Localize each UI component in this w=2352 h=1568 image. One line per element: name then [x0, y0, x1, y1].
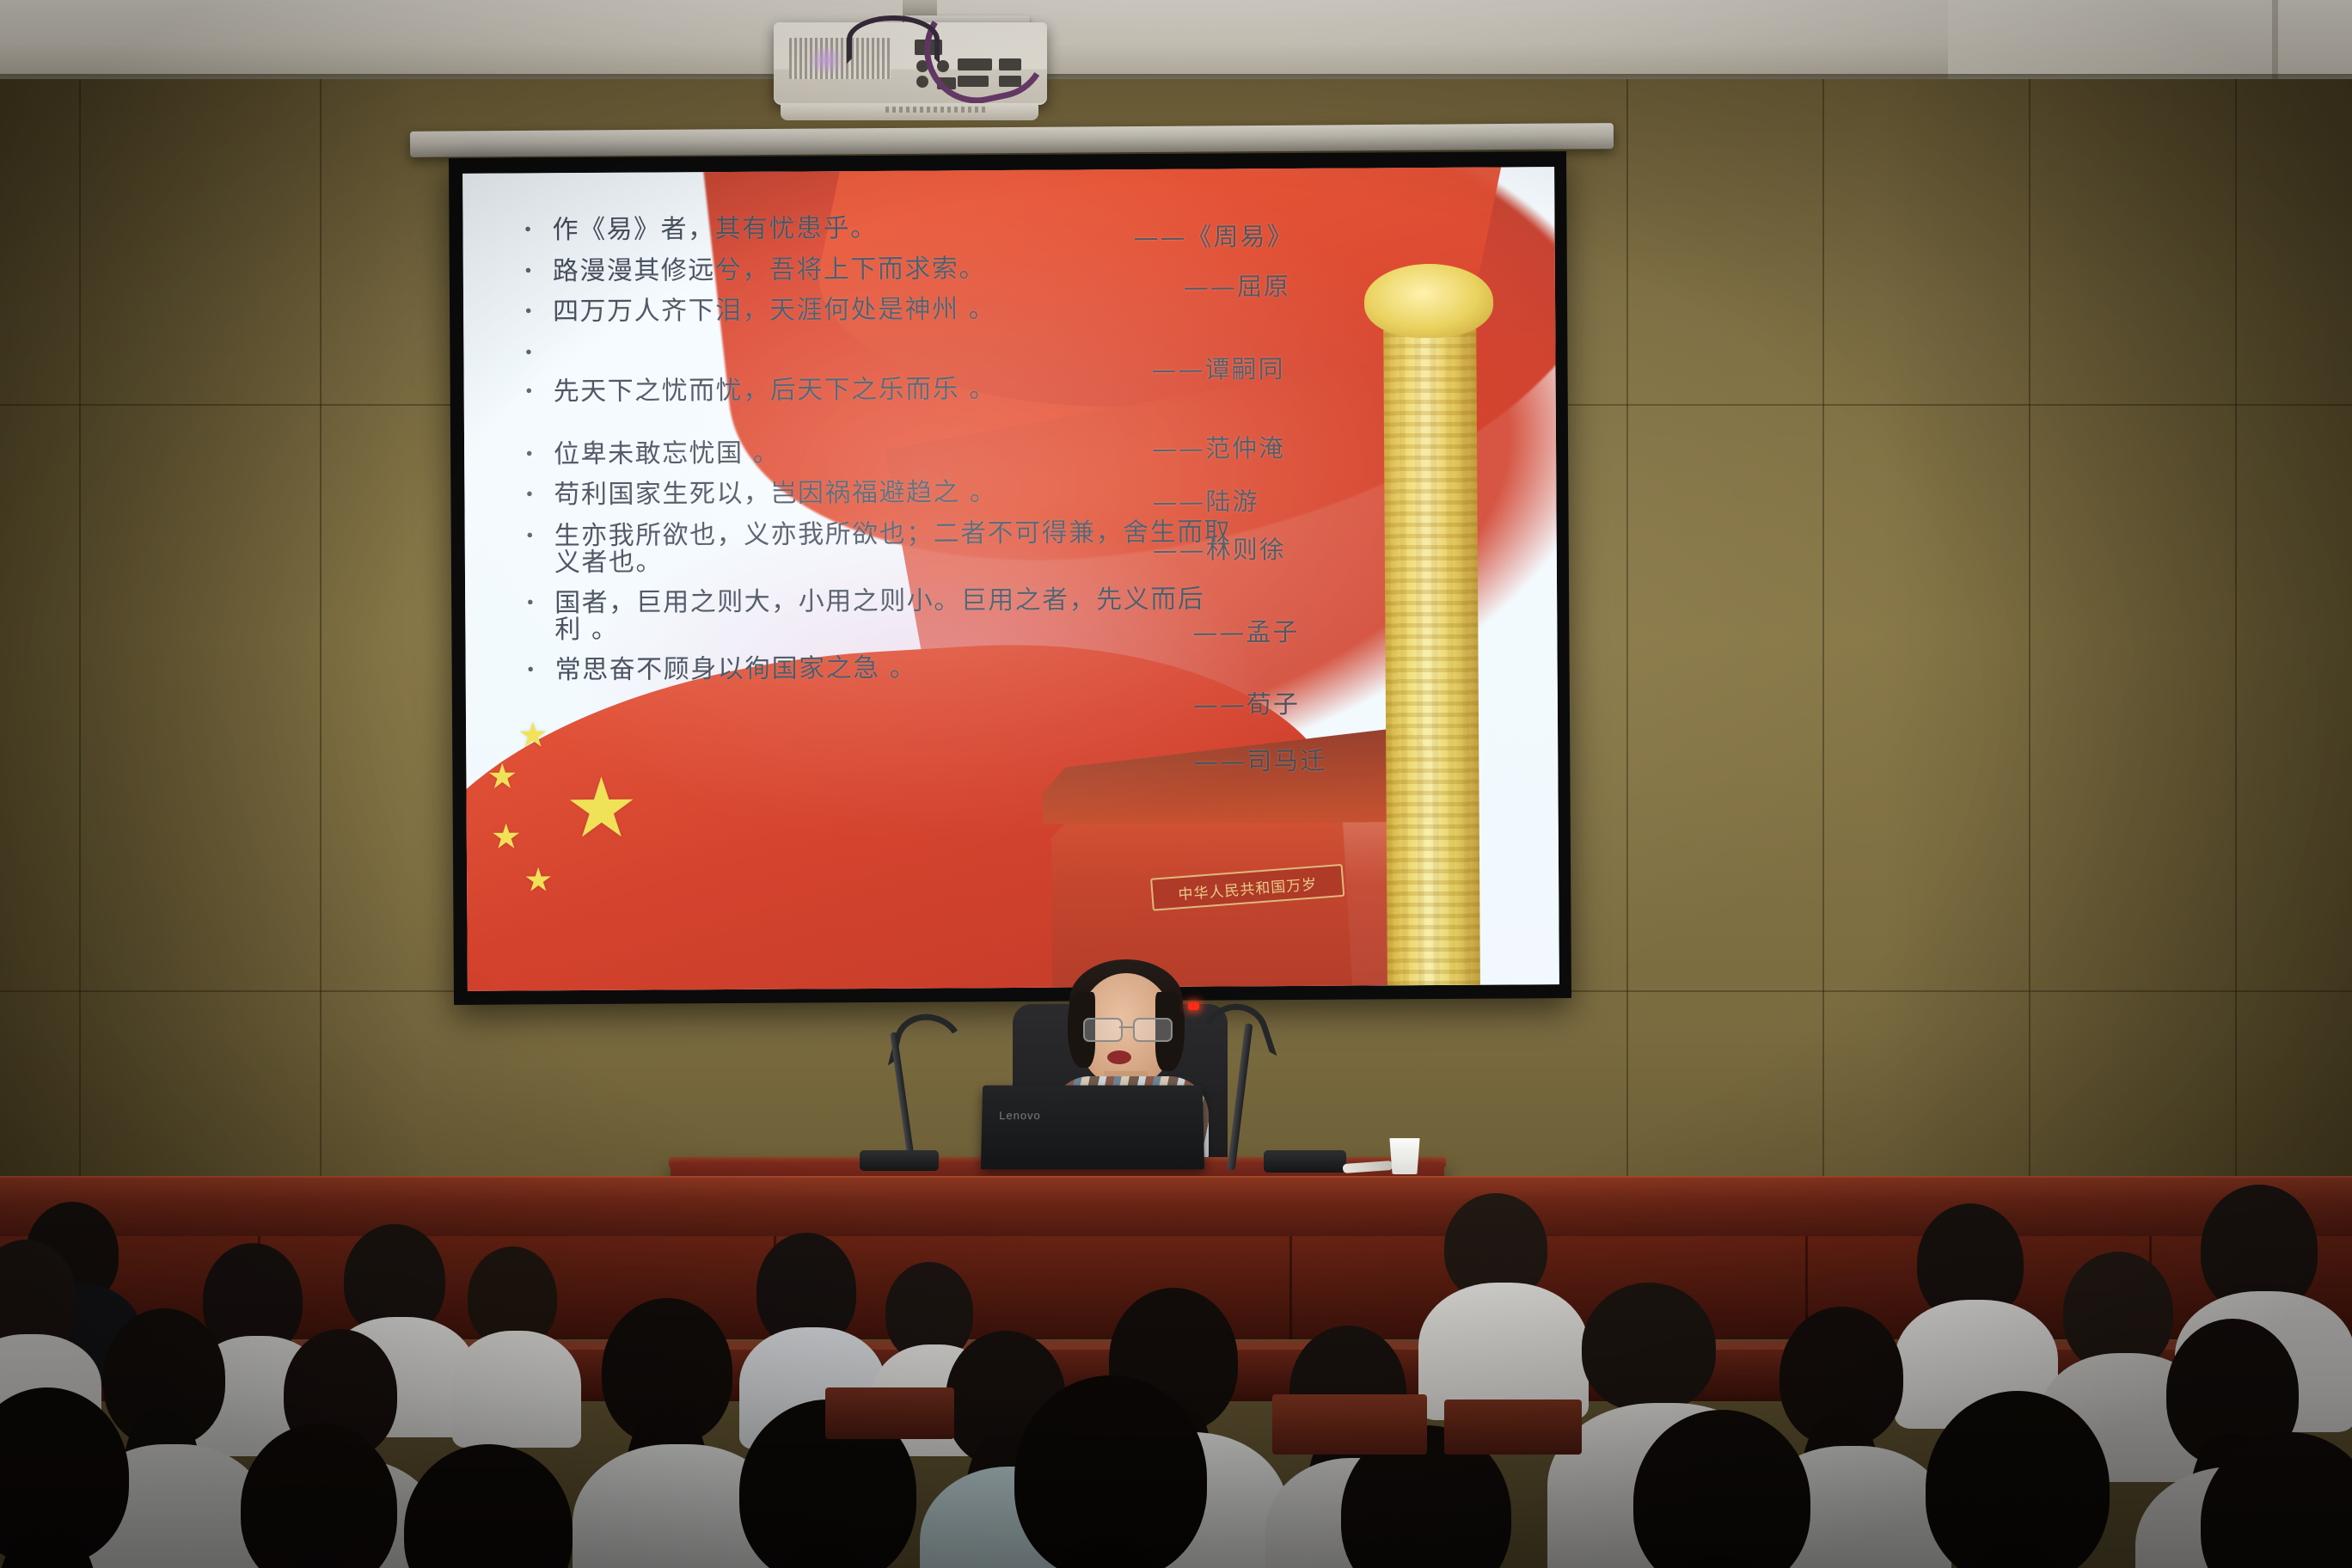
attribution-dash: ——: [1193, 689, 1246, 719]
projector-brand-plate: [885, 107, 989, 113]
microphone-base-right: [1264, 1150, 1346, 1173]
slide-bullet-item: • 国者，巨用之则大，小用之则小。巨用之者，先义而后 利 。: [525, 585, 1541, 643]
attribution-item: ——孟子: [1192, 612, 1299, 649]
slide-bullet-item: • 先天下之忧而忧，后天下之乐而乐 。: [524, 374, 1540, 407]
attribution-dash: ——: [1152, 434, 1205, 463]
attribution-dash: ——: [1192, 617, 1246, 646]
bullet-text: 四万万人齐下泪，天涯何处是神州 。: [553, 293, 1540, 326]
attribution-item: ——范仲淹: [1152, 428, 1285, 465]
attribution-dash: ——: [1151, 355, 1204, 384]
bullet-marker-icon: •: [524, 380, 554, 405]
projector-lamp-glow: [808, 45, 844, 76]
lecture-hall-scene: ★ ★ ★ ★ ★ 中华人民共和国万岁 • 作《易: [0, 0, 2352, 1568]
attribution-item: ——司马迁: [1193, 741, 1326, 778]
laptop-brand-label: Lenovo: [999, 1109, 1041, 1122]
bullet-text: 生亦我所欲也，义亦我所欲也；二者不可得兼，舍生而取 义者也。: [554, 518, 1541, 576]
bullet-text: 苟利国家生死以，岂因祸福避趋之 。: [554, 477, 1540, 510]
microphone-base-left: [860, 1150, 939, 1171]
attribution-name: 《周易》: [1186, 222, 1293, 252]
audience-person: [241, 1424, 430, 1568]
slide-bullet-item: • 作《易》者，其有忧患乎。: [523, 211, 1539, 244]
audience-person: [1917, 1204, 2041, 1367]
projection-screen-surface: ★ ★ ★ ★ ★ 中华人民共和国万岁 • 作《易: [462, 167, 1559, 991]
attribution-name: 林则徐: [1206, 535, 1286, 565]
bullet-marker-icon: •: [525, 591, 554, 616]
attribution-name: 司马迁: [1246, 746, 1326, 776]
bullet-text: 国者，巨用之则大，小用之则小。巨用之者，先义而后 利 。: [554, 585, 1541, 643]
attribution-dash: ——: [1184, 272, 1237, 301]
attribution-item: ——谭嗣同: [1151, 349, 1284, 386]
slide-bullet-item: • 生亦我所欲也，义亦我所欲也；二者不可得兼，舍生而取 义者也。: [525, 518, 1541, 576]
attribution-dash: ——: [1152, 487, 1205, 517]
paper-cup[interactable]: [1387, 1138, 1422, 1174]
attribution-item: ——屈原: [1184, 266, 1290, 303]
projector-signal-cable: [847, 15, 940, 64]
slide-bullet-item: • 路漫漫其修远兮，吾将上下而求索。: [524, 253, 1540, 285]
bullet-text: [553, 334, 1540, 340]
presenter-mouth: [1107, 1050, 1131, 1064]
bullet-marker-icon: •: [524, 442, 554, 467]
bullet-marker-icon: •: [524, 259, 553, 284]
audience-person: [0, 1240, 86, 1377]
slide-bullet-item: • 苟利国家生死以，岂因祸福避趋之 。: [524, 477, 1540, 510]
bullet-text: 路漫漫其修远兮，吾将上下而求索。: [553, 253, 1540, 285]
bullet-text: 先天下之忧而忧，后天下之乐而乐 。: [554, 374, 1540, 407]
attribution-dash: ——: [1133, 223, 1186, 252]
eyeglasses-icon: [1083, 1018, 1169, 1038]
slide-bullet-item: • 常思奋不顾身以徇国家之急 。: [526, 652, 1542, 685]
bullet-marker-icon: •: [523, 217, 552, 242]
attribution-item: ——荀子: [1193, 684, 1300, 721]
slide-bullet-list: • 作《易》者，其有忧患乎。 • 路漫漫其修远兮，吾将上下而求索。 • 四万万人…: [523, 211, 1543, 956]
seat-back: [1444, 1400, 1582, 1455]
bullet-marker-icon: •: [525, 524, 554, 548]
microphone-status-led: [1188, 1002, 1199, 1010]
attribution-item: ——《周易》: [1133, 217, 1293, 254]
audience-person: [404, 1444, 610, 1568]
audience-area: [0, 1178, 2352, 1568]
audience-person: [2201, 1432, 2352, 1568]
audience-person: [756, 1233, 870, 1381]
slide-bullet-item: • 位卑未敢忘忧国 。: [524, 436, 1540, 469]
audience-person: [1444, 1193, 1573, 1365]
audience-person: [602, 1298, 762, 1513]
attribution-item: ——林则徐: [1153, 530, 1286, 567]
bullet-text: 常思奋不顾身以徇国家之急 。: [555, 652, 1542, 685]
attribution-name: 范仲淹: [1205, 433, 1285, 463]
attribution-item: ——陆游: [1152, 481, 1259, 518]
audience-person: [468, 1246, 571, 1384]
attribution-name: 陆游: [1205, 487, 1259, 516]
audience-person: [1014, 1375, 1246, 1568]
projection-screen-frame: ★ ★ ★ ★ ★ 中华人民共和国万岁 • 作《易: [449, 151, 1571, 1005]
seat-back: [1272, 1394, 1427, 1455]
seat-back: [825, 1387, 954, 1439]
attribution-dash: ——: [1153, 536, 1206, 565]
bullet-text: 位卑未敢忘忧国 。: [554, 436, 1540, 469]
bullet-marker-icon: •: [524, 299, 553, 324]
bullet-marker-icon: •: [524, 483, 554, 508]
audience-person: [0, 1387, 163, 1568]
laptop[interactable]: Lenovo: [981, 1086, 1204, 1170]
slide-bullet-item-empty: •: [524, 334, 1540, 365]
audience-person: [1633, 1410, 1848, 1568]
bullet-marker-icon: •: [524, 340, 553, 365]
bullet-marker-icon: •: [526, 658, 555, 683]
slide-bullet-item: • 四万万人齐下泪，天涯何处是神州 。: [524, 293, 1540, 326]
audience-person: [1926, 1391, 2149, 1568]
attribution-name: 谭嗣同: [1204, 354, 1284, 384]
attribution-name: 屈原: [1237, 272, 1290, 301]
attribution-name: 荀子: [1246, 689, 1300, 719]
bullet-text: 作《易》者，其有忧患乎。: [552, 211, 1539, 244]
attribution-dash: ——: [1193, 746, 1246, 775]
attribution-name: 孟子: [1246, 617, 1299, 646]
